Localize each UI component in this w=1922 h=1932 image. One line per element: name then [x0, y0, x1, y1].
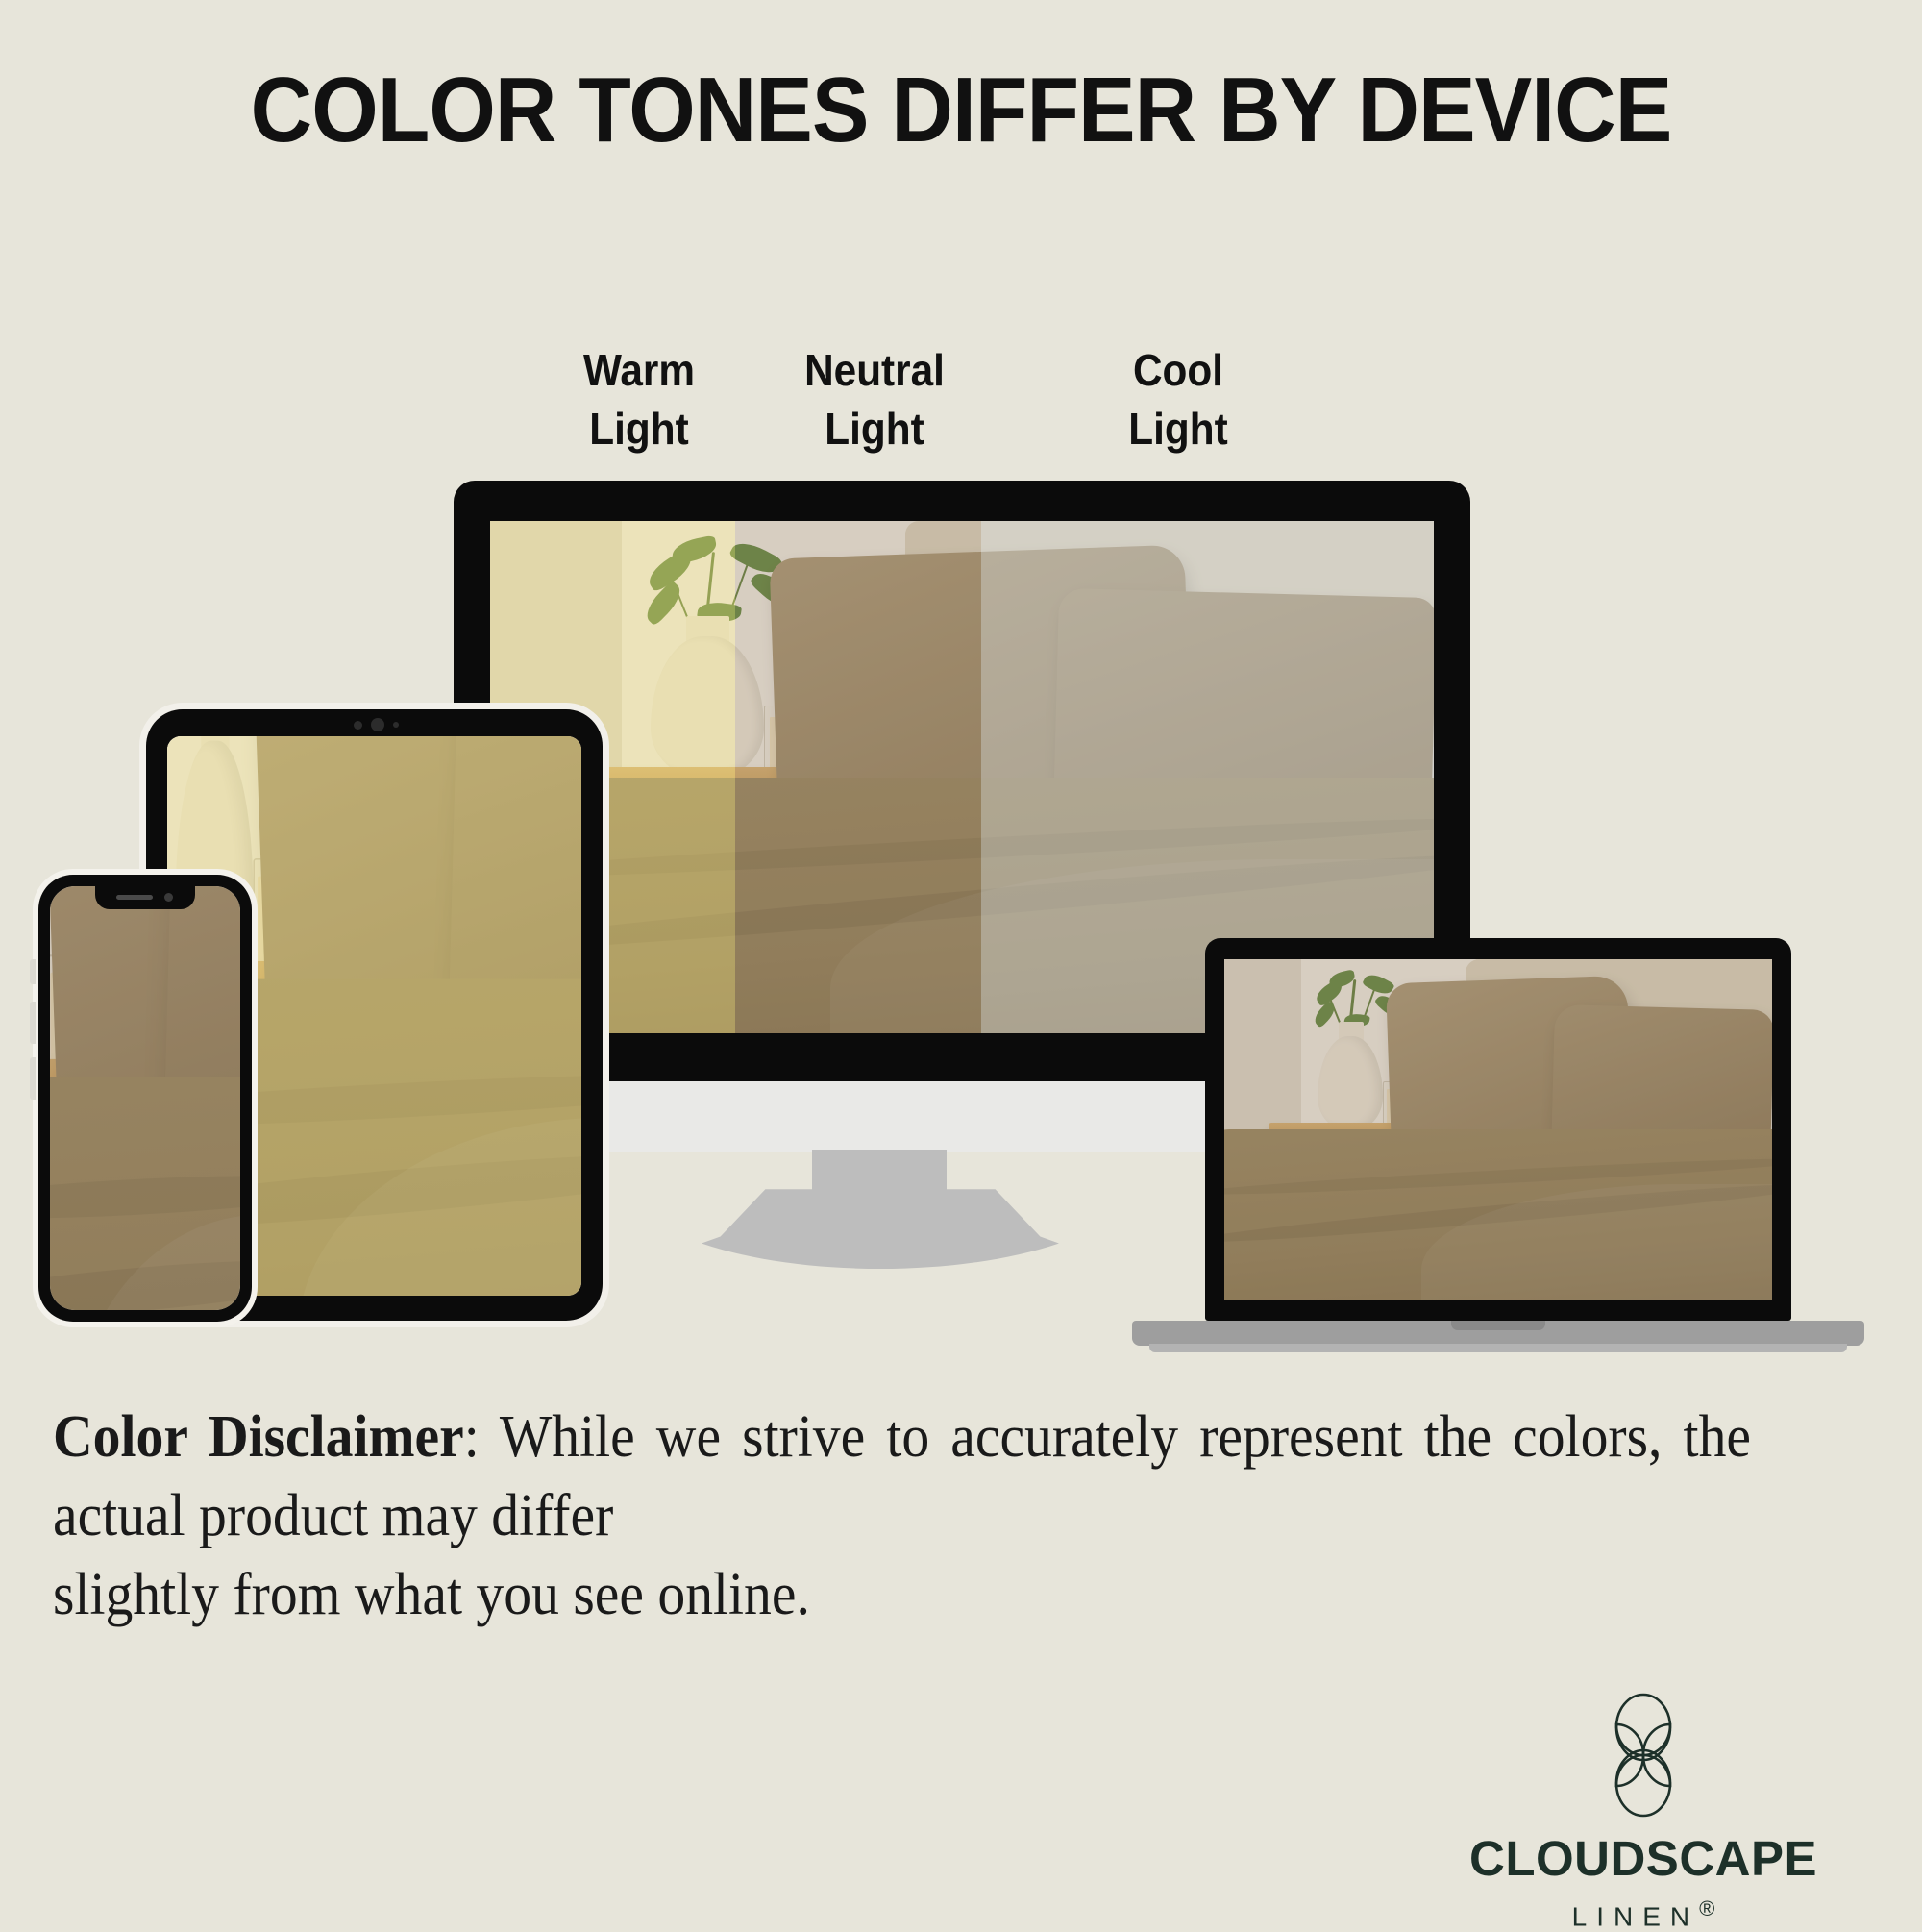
brand-logo[interactable]: CLOUDSCAPE LINEN®: [1432, 1692, 1855, 1932]
tablet-camera-icon: [354, 721, 362, 730]
poster-canvas: COLOR TONES DIFFER BY DEVICE Warm Light …: [0, 0, 1922, 1922]
monitor-base: [630, 1184, 1130, 1269]
tablet-sensor-icon: [393, 722, 399, 728]
smartphone-device[interactable]: [38, 875, 252, 1322]
label-warm-light: Warm Light: [533, 341, 746, 458]
disclaimer-last-line: slightly from what you see online.: [53, 1556, 1751, 1635]
laptop-screen: [1224, 959, 1772, 1300]
label-warm-line2: Light: [533, 400, 746, 458]
phone-volume-up-button[interactable]: [30, 1002, 36, 1044]
label-cool-light: Cool Light: [1072, 341, 1285, 458]
cloudscape-infinity-icon: [1599, 1692, 1688, 1819]
phone-volume-down-button[interactable]: [30, 1057, 36, 1100]
logo-subwordmark: LINEN®: [1572, 1896, 1715, 1932]
bedroom-scene-laptop: [1224, 959, 1772, 1300]
bedroom-scene-phone: [50, 886, 240, 1310]
label-cool-line2: Light: [1072, 400, 1285, 458]
logo-subwordmark-text: LINEN: [1572, 1901, 1699, 1931]
laptop-foot: [1149, 1344, 1847, 1352]
label-neutral-line2: Light: [769, 400, 981, 458]
label-warm-line1: Warm: [533, 341, 746, 400]
disclaimer-label: Color Disclaimer: [53, 1404, 464, 1470]
phone-silent-switch[interactable]: [30, 959, 36, 984]
phone-notch: [95, 884, 195, 909]
color-disclaimer: Color Disclaimer: While we strive to acc…: [53, 1399, 1751, 1634]
tablet-camera-icon: [371, 718, 384, 731]
phone-screen: [50, 886, 240, 1310]
laptop-base: [1132, 1321, 1864, 1346]
disclaimer-separator: :: [464, 1404, 500, 1470]
registered-trademark-icon: ®: [1699, 1896, 1714, 1920]
phone-front-camera-icon: [164, 893, 173, 902]
label-cool-line1: Cool: [1072, 341, 1285, 400]
laptop-device[interactable]: [1205, 938, 1791, 1321]
logo-wordmark: CLOUDSCAPE: [1432, 1834, 1855, 1883]
label-neutral-line1: Neutral: [769, 341, 981, 400]
phone-speaker-icon: [116, 895, 153, 900]
label-neutral-light: Neutral Light: [769, 341, 981, 458]
page-title: COLOR TONES DIFFER BY DEVICE: [67, 58, 1855, 163]
